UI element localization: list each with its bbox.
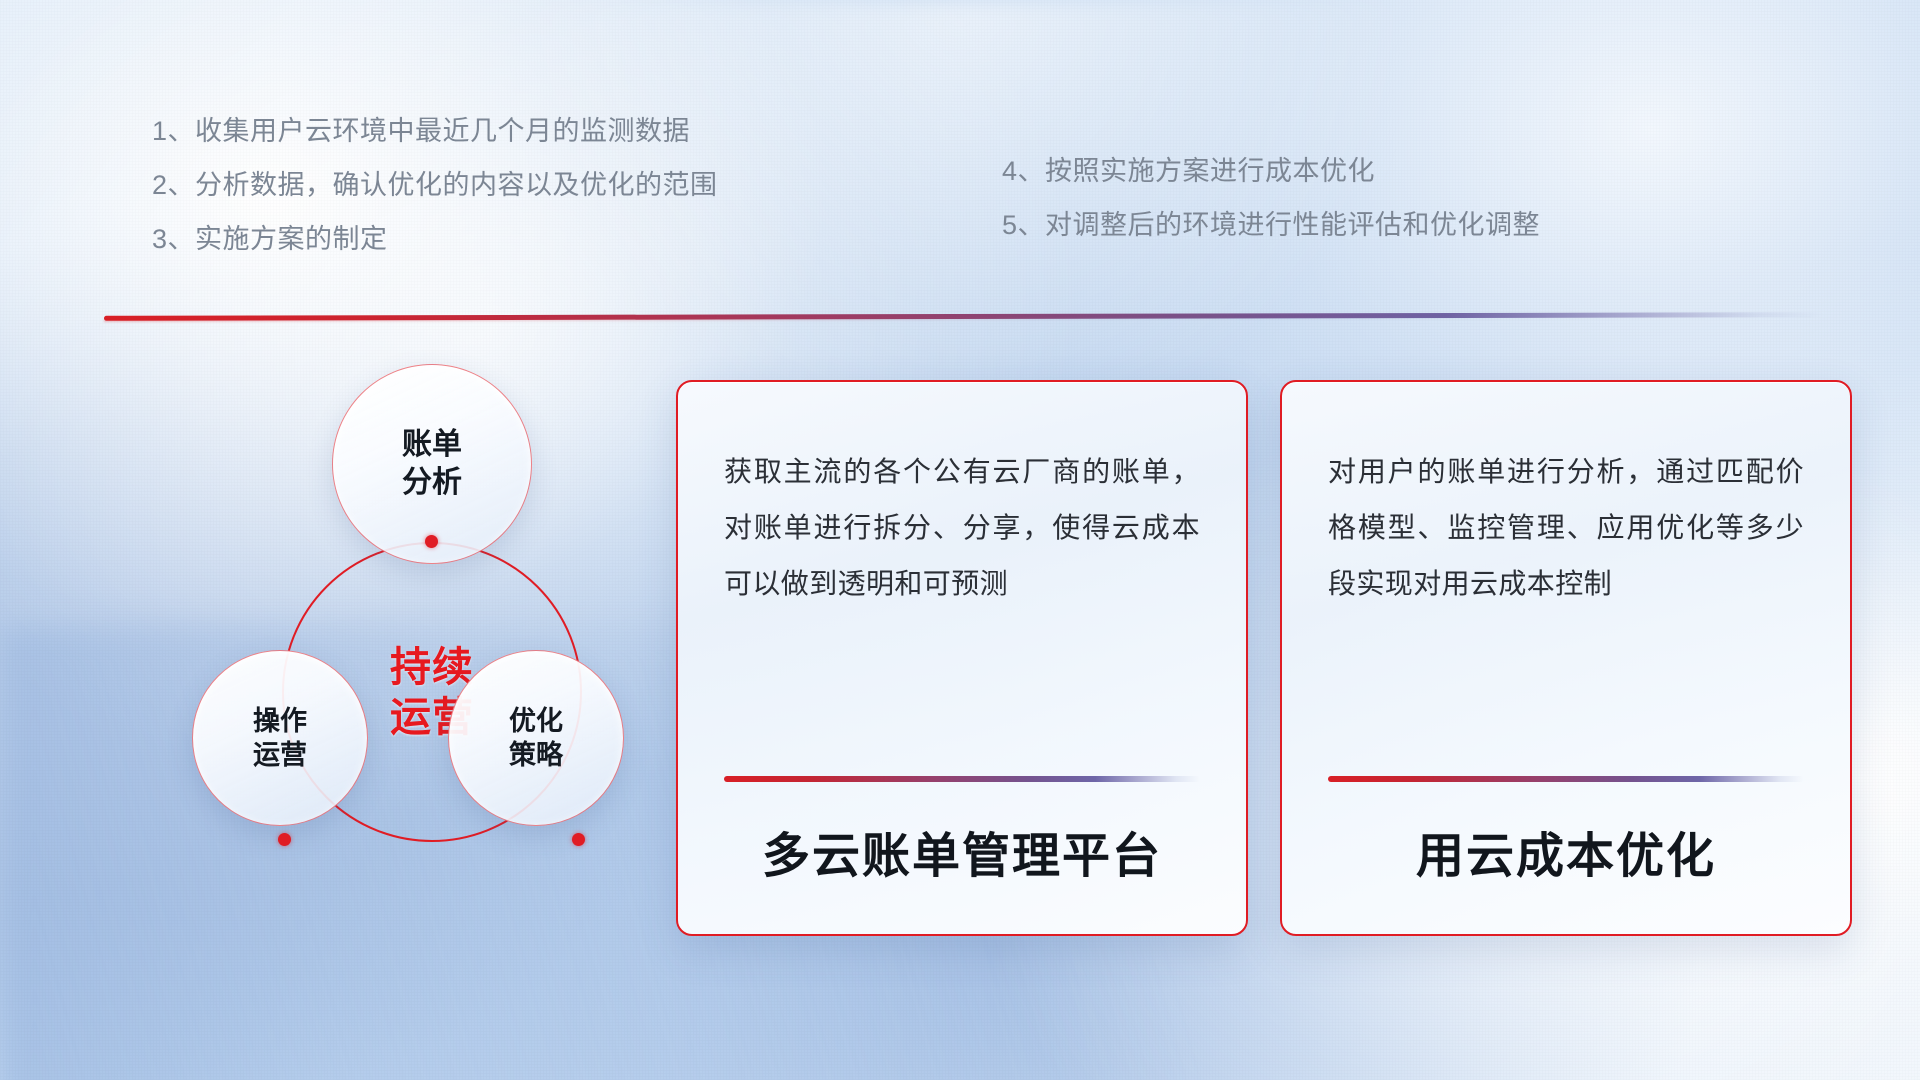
- venn-diagram: 持续 运营 账单 分析 操作 运营 优化 策略: [96, 358, 656, 938]
- card-2-divider: [1328, 776, 1804, 782]
- card-2-title: 用云成本优化: [1328, 816, 1804, 886]
- card-1-title: 多云账单管理平台: [724, 816, 1200, 886]
- venn-node-dot-right-icon: [572, 833, 585, 846]
- step-item-5: 5、对调整后的环境进行性能评估和优化调整: [1002, 212, 1540, 239]
- bubble-left-line-2: 运营: [253, 738, 307, 772]
- card-cloud-cost-optimization[interactable]: 对用户的账单进行分析，通过匹配价格模型、监控管理、应用优化等多少段实现对用云成本…: [1280, 380, 1852, 936]
- venn-bubble-optimization-strategy[interactable]: 优化 策略: [448, 650, 624, 826]
- venn-node-dot-left-icon: [278, 833, 291, 846]
- bubble-right-line-2: 策略: [509, 738, 563, 772]
- card-multicloud-billing-platform[interactable]: 获取主流的各个公有云厂商的账单，对账单进行拆分、分享，使得云成本可以做到透明和可…: [676, 380, 1248, 936]
- step-item-3: 3、实施方案的制定: [152, 226, 718, 253]
- step-item-4: 4、按照实施方案进行成本优化: [1002, 158, 1540, 185]
- bubble-top-line-1: 账单: [402, 426, 462, 464]
- slide-root: 1、收集用户云环境中最近几个月的监测数据 2、分析数据，确认优化的内容以及优化的…: [0, 0, 1920, 1080]
- card-1-body: 获取主流的各个公有云厂商的账单，对账单进行拆分、分享，使得云成本可以做到透明和可…: [724, 444, 1200, 612]
- bubble-right-line-1: 优化: [509, 704, 563, 738]
- step-item-1: 1、收集用户云环境中最近几个月的监测数据: [152, 118, 718, 145]
- bubble-top-line-2: 分析: [402, 464, 462, 502]
- venn-node-dot-top-icon: [425, 535, 438, 548]
- steps-right-column: 4、按照实施方案进行成本优化 5、对调整后的环境进行性能评估和优化调整: [1002, 158, 1540, 239]
- step-item-2: 2、分析数据，确认优化的内容以及优化的范围: [152, 172, 718, 199]
- bubble-left-line-1: 操作: [253, 704, 307, 738]
- card-1-divider: [724, 776, 1200, 782]
- steps-left-column: 1、收集用户云环境中最近几个月的监测数据 2、分析数据，确认优化的内容以及优化的…: [152, 118, 718, 253]
- venn-bubble-billing-analysis[interactable]: 账单 分析: [332, 364, 532, 564]
- venn-center-line-1: 持续: [390, 642, 474, 692]
- venn-bubble-operations[interactable]: 操作 运营: [192, 650, 368, 826]
- card-2-body: 对用户的账单进行分析，通过匹配价格模型、监控管理、应用优化等多少段实现对用云成本…: [1328, 444, 1804, 612]
